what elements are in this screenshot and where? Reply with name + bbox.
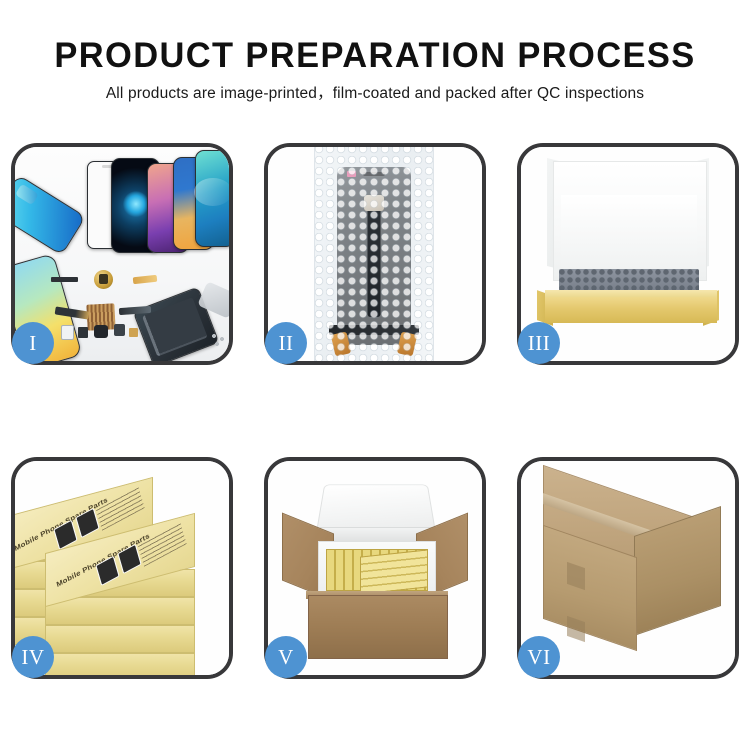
gold-contact-icon: [129, 328, 138, 337]
spec-lines-icon: [95, 485, 144, 531]
gold-connector-icon: [397, 331, 418, 356]
step-panel-1[interactable]: I: [11, 143, 233, 365]
page-subtitle: All products are image-printed，film-coat…: [0, 76, 750, 103]
camera-module-icon: [61, 325, 74, 340]
notch-icon: [363, 172, 385, 176]
step-badge-1: I: [12, 322, 54, 364]
step-badge-6: VI: [518, 636, 560, 678]
process-steps-grid: I II: [11, 143, 739, 679]
stacked-box: [45, 653, 195, 675]
step-panel-5[interactable]: V: [264, 457, 486, 679]
stacked-box: [45, 597, 195, 625]
step-badge-4: IV: [12, 636, 54, 678]
bubble-wrap-bag-icon: [314, 147, 434, 361]
battery-connector-icon: [94, 325, 108, 338]
step-panel-6[interactable]: VI: [517, 457, 739, 679]
step-badge-2: II: [265, 322, 307, 364]
page-title: PRODUCT PREPARATION PROCESS: [6, 0, 745, 76]
step-panel-4[interactable]: Mobile Phone Spare Parts Mobile Phone Sp…: [11, 457, 233, 679]
step-badge-5: V: [265, 636, 307, 678]
earpiece-mesh-icon: [51, 277, 78, 282]
step-panel-2[interactable]: II: [264, 143, 486, 365]
foam-sheet-icon: [561, 195, 697, 271]
speaker-module-icon: [78, 327, 88, 338]
page-header: PRODUCT PREPARATION PROCESS All products…: [0, 0, 750, 103]
connector-head-icon: [364, 195, 384, 211]
yellow-boxes-row-icon: [360, 549, 428, 594]
pink-label-icon: [347, 171, 356, 177]
stacked-box: [45, 625, 195, 653]
step-badge-3: III: [518, 322, 560, 364]
kraft-tray-icon: [545, 297, 717, 323]
step-panel-3[interactable]: III: [517, 143, 739, 365]
sim-tray-icon: [114, 324, 125, 336]
teal-wave-phone-icon: [195, 150, 229, 247]
screws-icon: [211, 333, 229, 347]
flex-ribbon-icon: [368, 201, 381, 317]
taptic-engine-icon: [94, 270, 113, 289]
carton-body-icon: [308, 595, 448, 659]
spec-lines-icon: [137, 521, 186, 567]
